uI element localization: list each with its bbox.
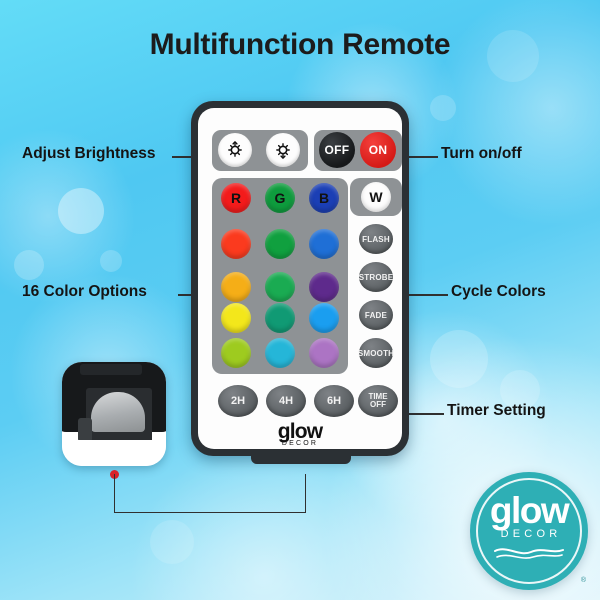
color-button-red[interactable]: R — [221, 183, 251, 213]
brightness-pad — [212, 130, 308, 171]
timer-off-line2: OFF — [370, 401, 386, 409]
remote-control: OFF ON R G B — [191, 101, 409, 456]
label-color-options: 16 Color Options — [22, 283, 147, 301]
timer-button-2h[interactable]: 2H — [218, 385, 258, 417]
battery-compartment-inset — [62, 362, 166, 466]
color-button-blue[interactable]: B — [309, 183, 339, 213]
bokeh-circle — [58, 188, 104, 234]
brand-ring — [476, 478, 582, 584]
mode-pad: FLASH STROBE FADE SMOOTH — [350, 220, 402, 374]
mode-button-smooth[interactable]: SMOOTH — [359, 338, 393, 368]
page-title: Multifunction Remote — [0, 28, 600, 62]
leader-line-modes — [404, 294, 448, 296]
poster-canvas: Multifunction Remote Adjust Brightness T… — [0, 0, 600, 600]
brightness-up-button[interactable] — [218, 133, 252, 167]
timer-pad: 2H 4H 6H TIME OFF — [212, 381, 402, 421]
sun-up-icon — [225, 140, 245, 160]
mode-button-fade[interactable]: FADE — [359, 300, 393, 330]
sun-down-icon — [273, 140, 293, 160]
color-swatch-r3c3[interactable] — [309, 272, 339, 302]
power-pad: OFF ON — [314, 130, 402, 171]
mode-button-strobe[interactable]: STROBE — [359, 262, 393, 292]
color-button-green[interactable]: G — [265, 183, 295, 213]
remote-bottom-edge — [251, 455, 351, 464]
bokeh-circle — [100, 250, 122, 272]
battery-clip — [78, 418, 92, 442]
remote-face: OFF ON R G B — [198, 108, 402, 449]
label-adjust-brightness: Adjust Brightness — [22, 145, 155, 163]
timer-button-time-off[interactable]: TIME OFF — [358, 385, 398, 417]
power-on-button[interactable]: ON — [360, 132, 396, 168]
bokeh-circle — [150, 520, 194, 564]
mode-button-flash[interactable]: FLASH — [359, 224, 393, 254]
color-swatch-r2c3[interactable] — [309, 229, 339, 259]
label-turn-on-off: Turn on/off — [441, 145, 522, 163]
label-timer-setting: Timer Setting — [447, 402, 546, 420]
bokeh-circle — [430, 330, 488, 388]
color-swatch-r4c3[interactable] — [309, 303, 339, 333]
registered-mark: ® — [581, 577, 586, 584]
color-swatch-r2c2[interactable] — [265, 229, 295, 259]
remote-brand-logo: glow DECOR — [198, 423, 402, 447]
marker-dot-battery — [110, 470, 119, 479]
power-off-button[interactable]: OFF — [319, 132, 355, 168]
timer-button-6h[interactable]: 6H — [314, 385, 354, 417]
battery-inset-base — [62, 440, 166, 466]
color-button-white[interactable]: W — [361, 182, 391, 212]
color-swatch-r3c2[interactable] — [265, 272, 295, 302]
label-cycle-colors: Cycle Colors — [451, 283, 546, 301]
color-swatch-r4c1[interactable] — [221, 303, 251, 333]
color-swatch-r2c1[interactable] — [221, 229, 251, 259]
white-pad: W — [350, 178, 402, 216]
connector-battery-to-remote — [114, 474, 306, 513]
color-swatch-r3c1[interactable] — [221, 272, 251, 302]
color-swatch-r5c3[interactable] — [309, 338, 339, 368]
remote-brand-decor: DECOR — [198, 440, 402, 447]
brand-logo: glow DECOR ® — [470, 472, 588, 590]
color-swatch-r5c2[interactable] — [265, 338, 295, 368]
bokeh-circle — [430, 95, 456, 121]
timer-button-4h[interactable]: 4H — [266, 385, 306, 417]
brightness-down-button[interactable] — [266, 133, 300, 167]
color-grid-pad: R G B — [212, 178, 348, 374]
color-swatch-r5c1[interactable] — [221, 338, 251, 368]
color-swatch-r4c2[interactable] — [265, 303, 295, 333]
bokeh-circle — [14, 250, 44, 280]
battery-slot-label — [80, 364, 142, 375]
